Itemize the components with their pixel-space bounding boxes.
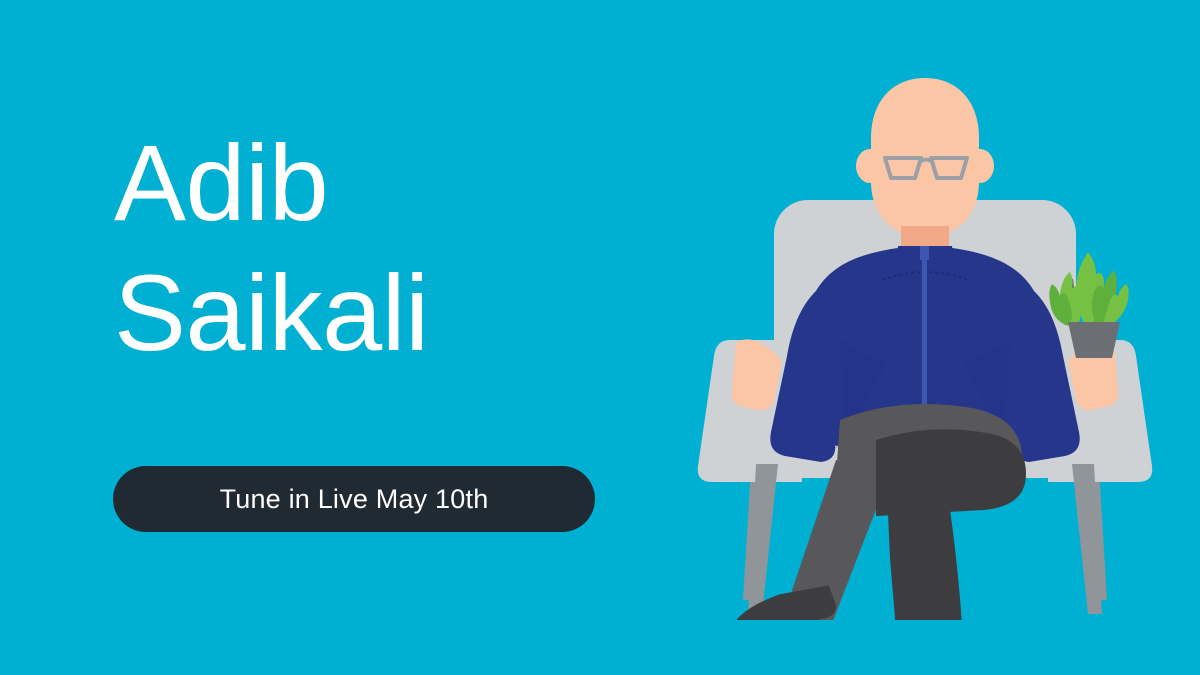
plant-leaves <box>1049 252 1128 328</box>
plant-pot <box>1068 322 1120 358</box>
slide-canvas: Adib Saikali Tune in Live May 10th <box>0 0 1200 675</box>
cta-button-label: Tune in Live May 10th <box>220 486 489 513</box>
potted-plant-illustration <box>1046 236 1142 366</box>
tune-in-live-button[interactable]: Tune in Live May 10th <box>113 466 595 532</box>
figure-leg-front <box>876 429 1026 620</box>
speaker-name-heading: Adib Saikali <box>114 118 734 377</box>
jacket-zipper-pull <box>920 246 929 260</box>
